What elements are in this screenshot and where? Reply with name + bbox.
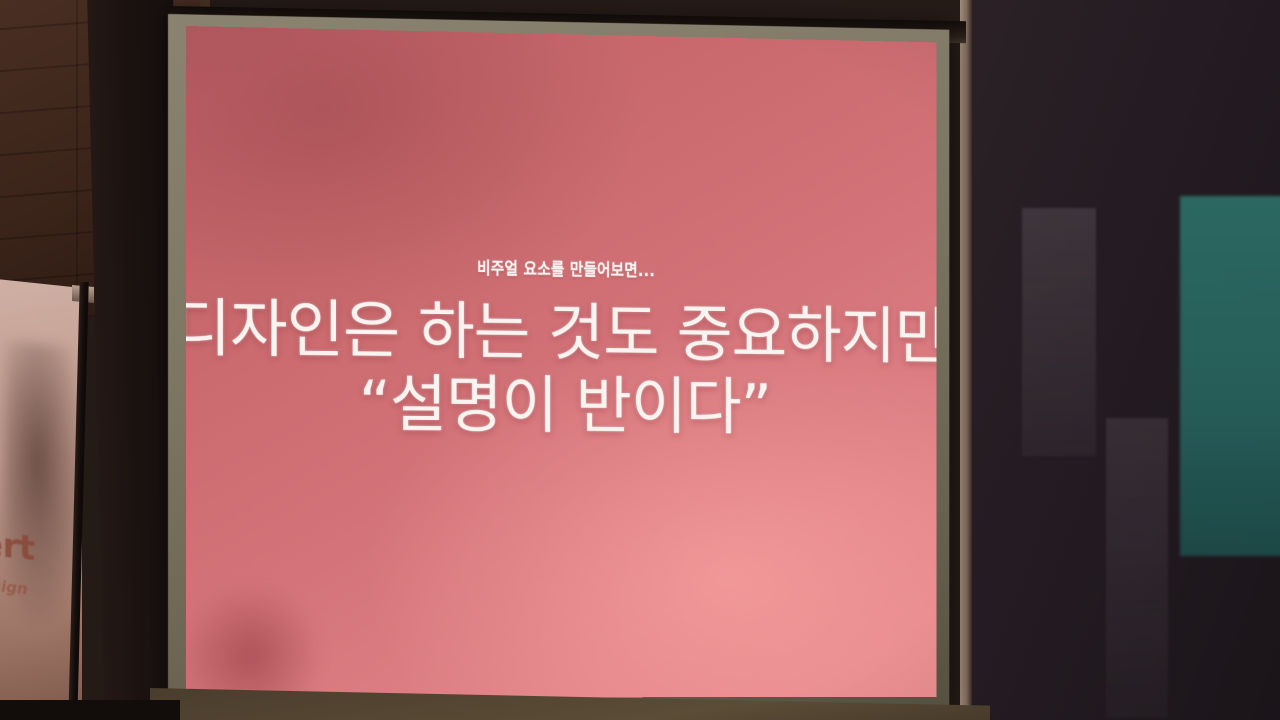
banner-title-text: ert (0, 523, 35, 569)
slide-headline-line-1: 디자인은 하는 것도 중요하지만 (186, 295, 937, 371)
slide-headline-line-2: “설명이 반이다” (186, 369, 937, 443)
right-wall-panel-lower (1106, 418, 1168, 718)
right-wall-panel-upper (1022, 208, 1096, 456)
projected-slide: 비주얼 요소를 만들어보면... 디자인은 하는 것도 중요하지만 “설명이 반… (186, 26, 937, 698)
photo-scene: ert esign 비주얼 요소를 만들어보면... 디자인은 하는 것도 중요… (0, 0, 1280, 720)
slide-headline: 디자인은 하는 것도 중요하지만 “설명이 반이다” (186, 295, 937, 443)
screen-right-edge (960, 0, 972, 720)
banner-subtitle-text: esign (0, 575, 28, 598)
foreground-dark-area (0, 700, 180, 720)
teal-light-panel (1180, 196, 1280, 556)
presenter-head-shadow (186, 588, 325, 698)
slide-eyebrow-text: 비주얼 요소를 만들어보면... (477, 254, 655, 281)
